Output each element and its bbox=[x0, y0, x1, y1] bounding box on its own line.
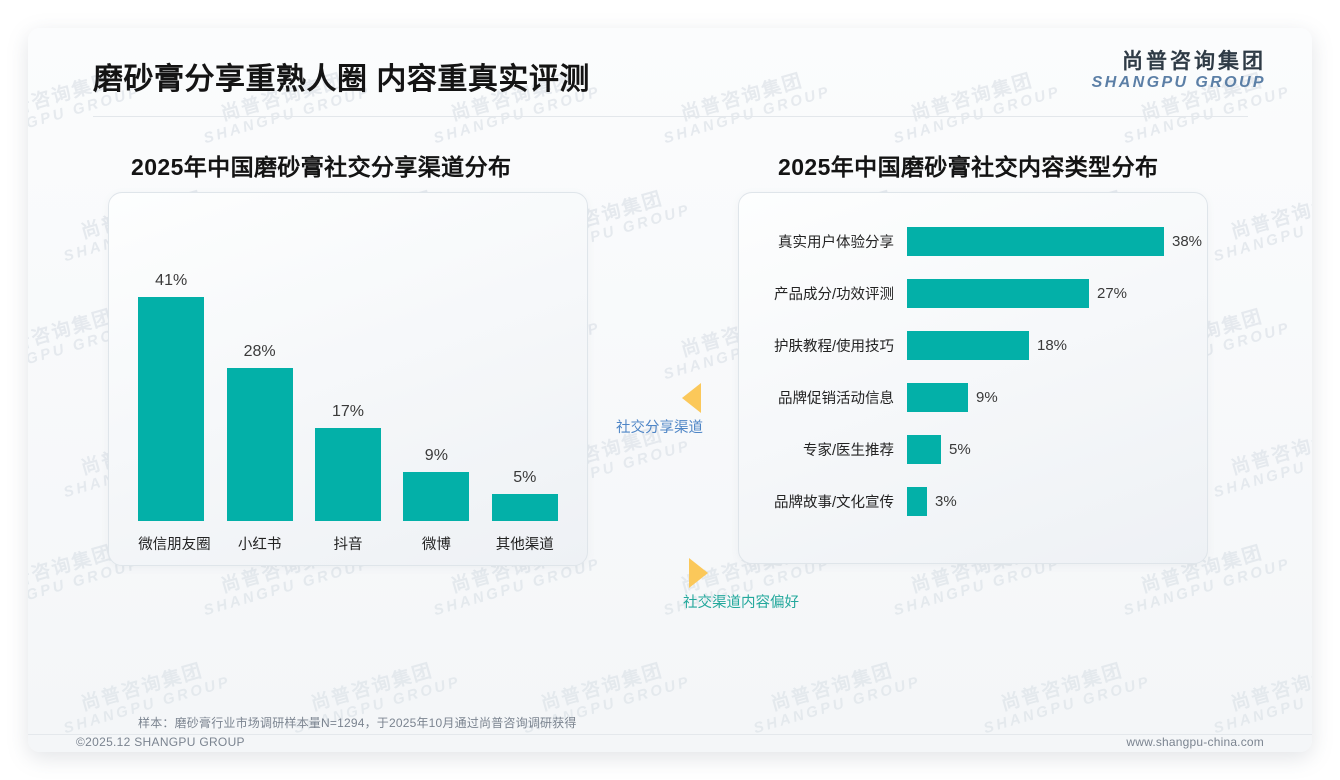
bar-category-label: 小红书 bbox=[227, 533, 293, 554]
brand-name-cn: 尚普咨询集团 bbox=[1092, 50, 1266, 73]
bar-row: 专家/医生推荐5% bbox=[739, 423, 1207, 475]
bar-category-label: 微博 bbox=[403, 533, 469, 554]
bar-column: 9% bbox=[403, 447, 469, 521]
bar-category-label: 专家/医生推荐 bbox=[739, 439, 907, 460]
chart-title-channels: 2025年中国磨砂膏社交分享渠道分布 bbox=[131, 148, 648, 182]
header-divider bbox=[93, 116, 1248, 117]
bar-category-label: 其他渠道 bbox=[492, 533, 558, 554]
watermark-text: 尚普咨询集团SHANGPU GROUP bbox=[746, 655, 922, 737]
bar-value-label: 3% bbox=[935, 493, 957, 510]
bar-value-label: 5% bbox=[949, 441, 971, 458]
chart-title-content-types: 2025年中国磨砂膏社交内容类型分布 bbox=[778, 148, 1248, 182]
vertical-bar-axis-labels: 微信朋友圈小红书抖音微博其他渠道 bbox=[109, 521, 587, 565]
annotation-content-preference: 社交渠道内容偏好 bbox=[683, 558, 799, 612]
bar-column: 17% bbox=[315, 403, 381, 521]
annotation-right-label: 社交渠道内容偏好 bbox=[683, 591, 799, 612]
bar bbox=[492, 494, 558, 521]
bar bbox=[227, 368, 293, 521]
bar-column: 41% bbox=[138, 272, 204, 521]
bar-value-label: 38% bbox=[1172, 233, 1202, 250]
annotation-social-share-channel: 社交分享渠道 bbox=[616, 383, 703, 437]
bar-category-label: 产品成分/功效评测 bbox=[739, 283, 907, 304]
bar bbox=[403, 472, 469, 521]
bar bbox=[315, 428, 381, 521]
bar bbox=[907, 331, 1029, 360]
bar-category-label: 品牌促销活动信息 bbox=[739, 387, 907, 408]
bar-column: 28% bbox=[227, 343, 293, 521]
bar-row: 品牌促销活动信息9% bbox=[739, 371, 1207, 423]
chart-card-content-types: 真实用户体验分享38%产品成分/功效评测27%护肤教程/使用技巧18%品牌促销活… bbox=[738, 192, 1208, 564]
brand-name-en: SHANGPU GROUP bbox=[1092, 74, 1266, 92]
chart-panel-content-types: 2025年中国磨砂膏社交内容类型分布 真实用户体验分享38%产品成分/功效评测2… bbox=[738, 148, 1248, 564]
bar-value-label: 17% bbox=[332, 403, 364, 421]
bar bbox=[907, 279, 1089, 308]
bar-value-label: 9% bbox=[976, 389, 998, 406]
sample-footnote: 样本：磨砂膏行业市场调研样本量N=1294，于2025年10月通过尚普咨询调研获… bbox=[138, 714, 577, 731]
bar-row: 品牌故事/文化宣传3% bbox=[739, 475, 1207, 527]
bar bbox=[907, 383, 968, 412]
page-title: 磨砂膏分享重熟人圈 内容重真实评测 bbox=[93, 54, 590, 98]
bar-category-label: 微信朋友圈 bbox=[138, 533, 204, 554]
vertical-bar-plot: 41%28%17%9%5% bbox=[109, 227, 587, 521]
bar-category-label: 抖音 bbox=[315, 533, 381, 554]
footer-copyright: ©2025.12 SHANGPU GROUP bbox=[76, 735, 245, 749]
horizontal-bar-plot: 真实用户体验分享38%产品成分/功效评测27%护肤教程/使用技巧18%品牌促销活… bbox=[739, 215, 1207, 527]
bar-column: 5% bbox=[492, 469, 558, 521]
triangle-right-icon bbox=[689, 558, 708, 588]
slide-header: 磨砂膏分享重熟人圈 内容重真实评测 尚普咨询集团 SHANGPU GROUP bbox=[28, 28, 1312, 118]
bar-value-label: 28% bbox=[244, 343, 276, 361]
bar bbox=[907, 435, 941, 464]
footer-website[interactable]: www.shangpu-china.com bbox=[1126, 735, 1264, 749]
brand-logo: 尚普咨询集团 SHANGPU GROUP bbox=[1092, 50, 1266, 92]
chart-card-channels: 41%28%17%9%5% 微信朋友圈小红书抖音微博其他渠道 bbox=[108, 192, 588, 566]
bar-category-label: 护肤教程/使用技巧 bbox=[739, 335, 907, 356]
annotation-left-label: 社交分享渠道 bbox=[616, 416, 703, 437]
bar-value-label: 9% bbox=[425, 447, 448, 465]
triangle-left-icon bbox=[682, 383, 701, 413]
bar-row: 护肤教程/使用技巧18% bbox=[739, 319, 1207, 371]
bar-value-label: 41% bbox=[155, 272, 187, 290]
chart-panel-channels: 2025年中国磨砂膏社交分享渠道分布 41%28%17%9%5% 微信朋友圈小红… bbox=[93, 148, 648, 566]
slide-canvas: 尚普咨询集团SHANGPU GROUP尚普咨询集团SHANGPU GROUP尚普… bbox=[28, 28, 1312, 752]
bar bbox=[907, 487, 927, 516]
watermark-text: 尚普咨询集团SHANGPU GROUP bbox=[1206, 655, 1312, 737]
bar bbox=[907, 227, 1164, 256]
bar-value-label: 27% bbox=[1097, 285, 1127, 302]
bar-value-label: 18% bbox=[1037, 337, 1067, 354]
watermark-text: 尚普咨询集团SHANGPU GROUP bbox=[976, 655, 1152, 737]
bar-category-label: 真实用户体验分享 bbox=[739, 231, 907, 252]
bar-value-label: 5% bbox=[513, 469, 536, 487]
bar-category-label: 品牌故事/文化宣传 bbox=[739, 491, 907, 512]
slide-footer: ©2025.12 SHANGPU GROUP www.shangpu-china… bbox=[28, 735, 1312, 752]
bar-row: 真实用户体验分享38% bbox=[739, 215, 1207, 267]
bar bbox=[138, 297, 204, 521]
bar-row: 产品成分/功效评测27% bbox=[739, 267, 1207, 319]
